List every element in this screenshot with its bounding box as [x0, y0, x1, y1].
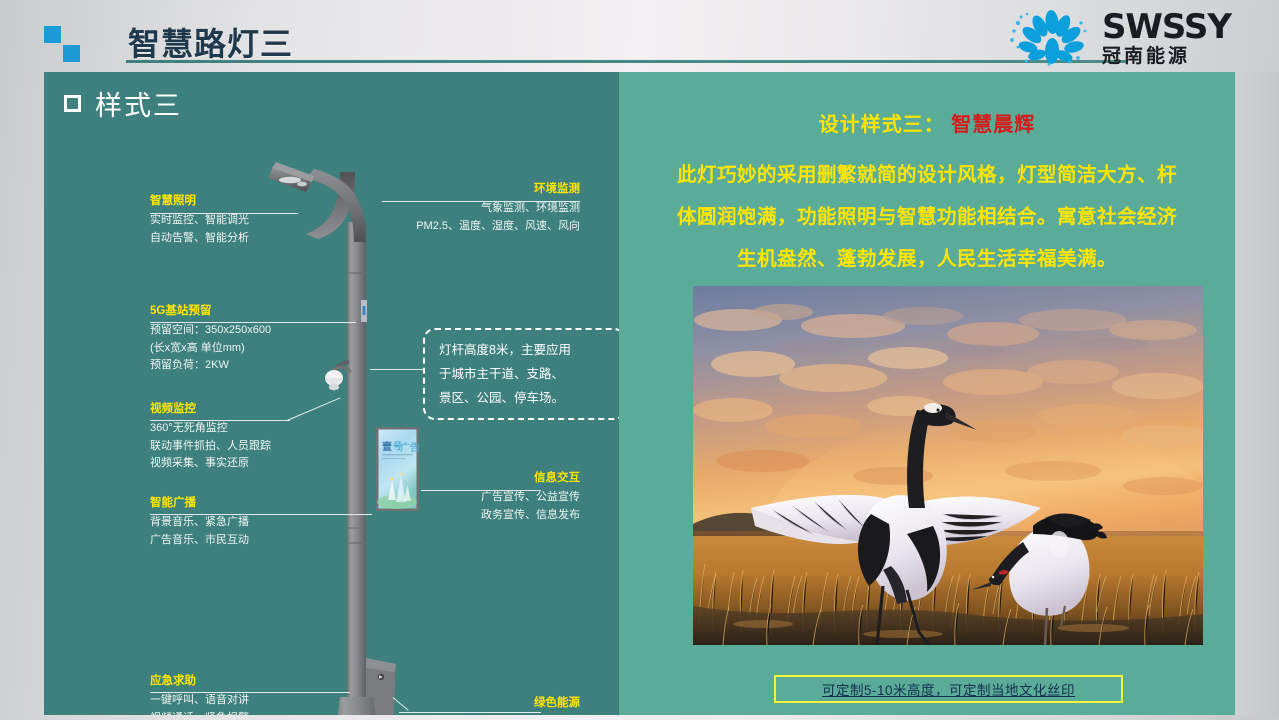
feature-line: (长x宽x高 单位mm)	[150, 340, 360, 358]
svg-text:壹: 壹	[382, 440, 392, 453]
feature-title: 智能广播	[150, 496, 350, 510]
feature-line: 自动告警、智能分析	[150, 230, 340, 248]
square-bullet-icon	[64, 95, 81, 112]
brand-logo: SWSSY 冠南能源	[1006, 8, 1231, 68]
feature-line: PM2.5、温度、湿度、风速、风向	[380, 218, 580, 236]
crane-sunset-photo	[693, 286, 1203, 645]
feature-title: 应急求助	[150, 674, 350, 688]
title-divider	[126, 60, 1126, 63]
style-heading: 样式三	[64, 84, 182, 123]
design-title: 设计样式三： 智慧晨辉	[619, 108, 1235, 137]
connector-line	[370, 369, 424, 370]
feature-line: 一键呼叫、语音对讲	[150, 692, 350, 710]
feature-group-info-interaction: 信息交互 广告宣传、公益宣传 政务宣传、信息发布	[424, 471, 580, 524]
feature-title: 智慧照明	[150, 194, 340, 208]
feature-title: 5G基站预留	[150, 304, 360, 318]
brand-name: SWSSY	[1102, 10, 1231, 44]
feature-title: 信息交互	[424, 471, 580, 485]
feature-line: 汽车充电	[440, 714, 580, 715]
feature-line: 政务宣传、信息发布	[424, 507, 580, 525]
height-application-note: 灯杆高度8米，主要应用 于城市主干道、支路、 景区、公园、停车场。	[423, 328, 619, 420]
feature-group-5g-reserve: 5G基站预留 预留空间：350x250x600 (长x宽x高 单位mm) 预留负…	[150, 304, 360, 375]
style-diagram-panel: 壹 号 广告 样式三 智慧照明 实时监控、智能调光 自动告警、智能分析	[44, 72, 619, 715]
feature-title: 绿色能源	[440, 696, 580, 710]
customization-caption: 可定制5-10米高度，可定制当地文化丝印	[822, 679, 1075, 699]
feature-group-env-monitoring: 环境监测 气象监测、环境监测 PM2.5、温度、湿度、风速、风向	[380, 182, 580, 235]
design-title-prefix: 设计样式三：	[819, 114, 945, 136]
feature-group-smart-broadcast: 智能广播 背景音乐、紧急广播 广告音乐、市民互动	[150, 496, 350, 549]
style-heading-label: 样式三	[95, 84, 182, 123]
note-line: 灯杆高度8米，主要应用	[439, 338, 610, 362]
feature-group-green-energy: 绿色能源 汽车充电 手机充电	[440, 696, 580, 715]
customization-caption-box: 可定制5-10米高度，可定制当地文化丝印	[774, 675, 1123, 703]
design-body-line: 此灯巧妙的采用删繁就简的设计风格，灯型简洁大方、杆	[631, 154, 1223, 196]
note-line: 景区、公园、停车场。	[439, 386, 610, 410]
design-body-line: 生机盎然、蓬勃发展，人民生活幸福美满。	[631, 238, 1223, 280]
design-description-panel: 设计样式三： 智慧晨辉 此灯巧妙的采用删繁就简的设计风格，灯型简洁大方、杆 体圆…	[619, 72, 1235, 715]
feature-line: 气象监测、环境监测	[380, 200, 580, 218]
feature-line: 视频采集、事实还原	[150, 455, 350, 473]
feature-group-smart-lighting: 智慧照明 实时监控、智能调光 自动告警、智能分析	[150, 194, 340, 247]
feature-line: 广告音乐、市民互动	[150, 532, 350, 550]
feature-line: 背景音乐、紧急广播	[150, 514, 350, 532]
feature-line: 预留负荷：2KW	[150, 357, 360, 375]
feature-line: 广告宣传、公益宣传	[424, 489, 580, 507]
brand-subtitle: 冠南能源	[1102, 47, 1190, 66]
feature-line: 预留空间：350x250x600	[150, 322, 360, 340]
feature-line: 视频通话、紧急报警	[150, 710, 350, 716]
feature-group-emergency-help: 应急求助 一键呼叫、语音对讲 视频通话、紧急报警	[150, 674, 350, 715]
design-title-name: 智慧晨辉	[951, 114, 1035, 136]
feature-line: 360°无死角监控	[150, 420, 350, 438]
feature-title: 视频监控	[150, 402, 350, 416]
decorative-squares-icon	[44, 26, 88, 62]
feature-title: 环境监测	[380, 182, 580, 196]
svg-text:广告: 广告	[400, 441, 420, 454]
page-header: 智慧路灯三	[0, 0, 1279, 72]
flower-petal-logo-icon	[1006, 9, 1090, 67]
feature-line: 实时监控、智能调光	[150, 212, 340, 230]
design-body-line: 体圆润饱满，功能照明与智慧功能相结合。寓意社会经济	[631, 196, 1223, 238]
design-body-text: 此灯巧妙的采用删繁就简的设计风格，灯型简洁大方、杆 体圆润饱满，功能照明与智慧功…	[631, 154, 1223, 280]
feature-line: 联动事件抓拍、人员跟踪	[150, 438, 350, 456]
feature-group-video-surveillance: 视频监控 360°无死角监控 联动事件抓拍、人员跟踪 视频采集、事实还原	[150, 402, 350, 473]
note-line: 于城市主干道、支路、	[439, 362, 610, 386]
right-edge-strip	[1235, 72, 1279, 715]
page-title: 智慧路灯三	[128, 19, 293, 65]
